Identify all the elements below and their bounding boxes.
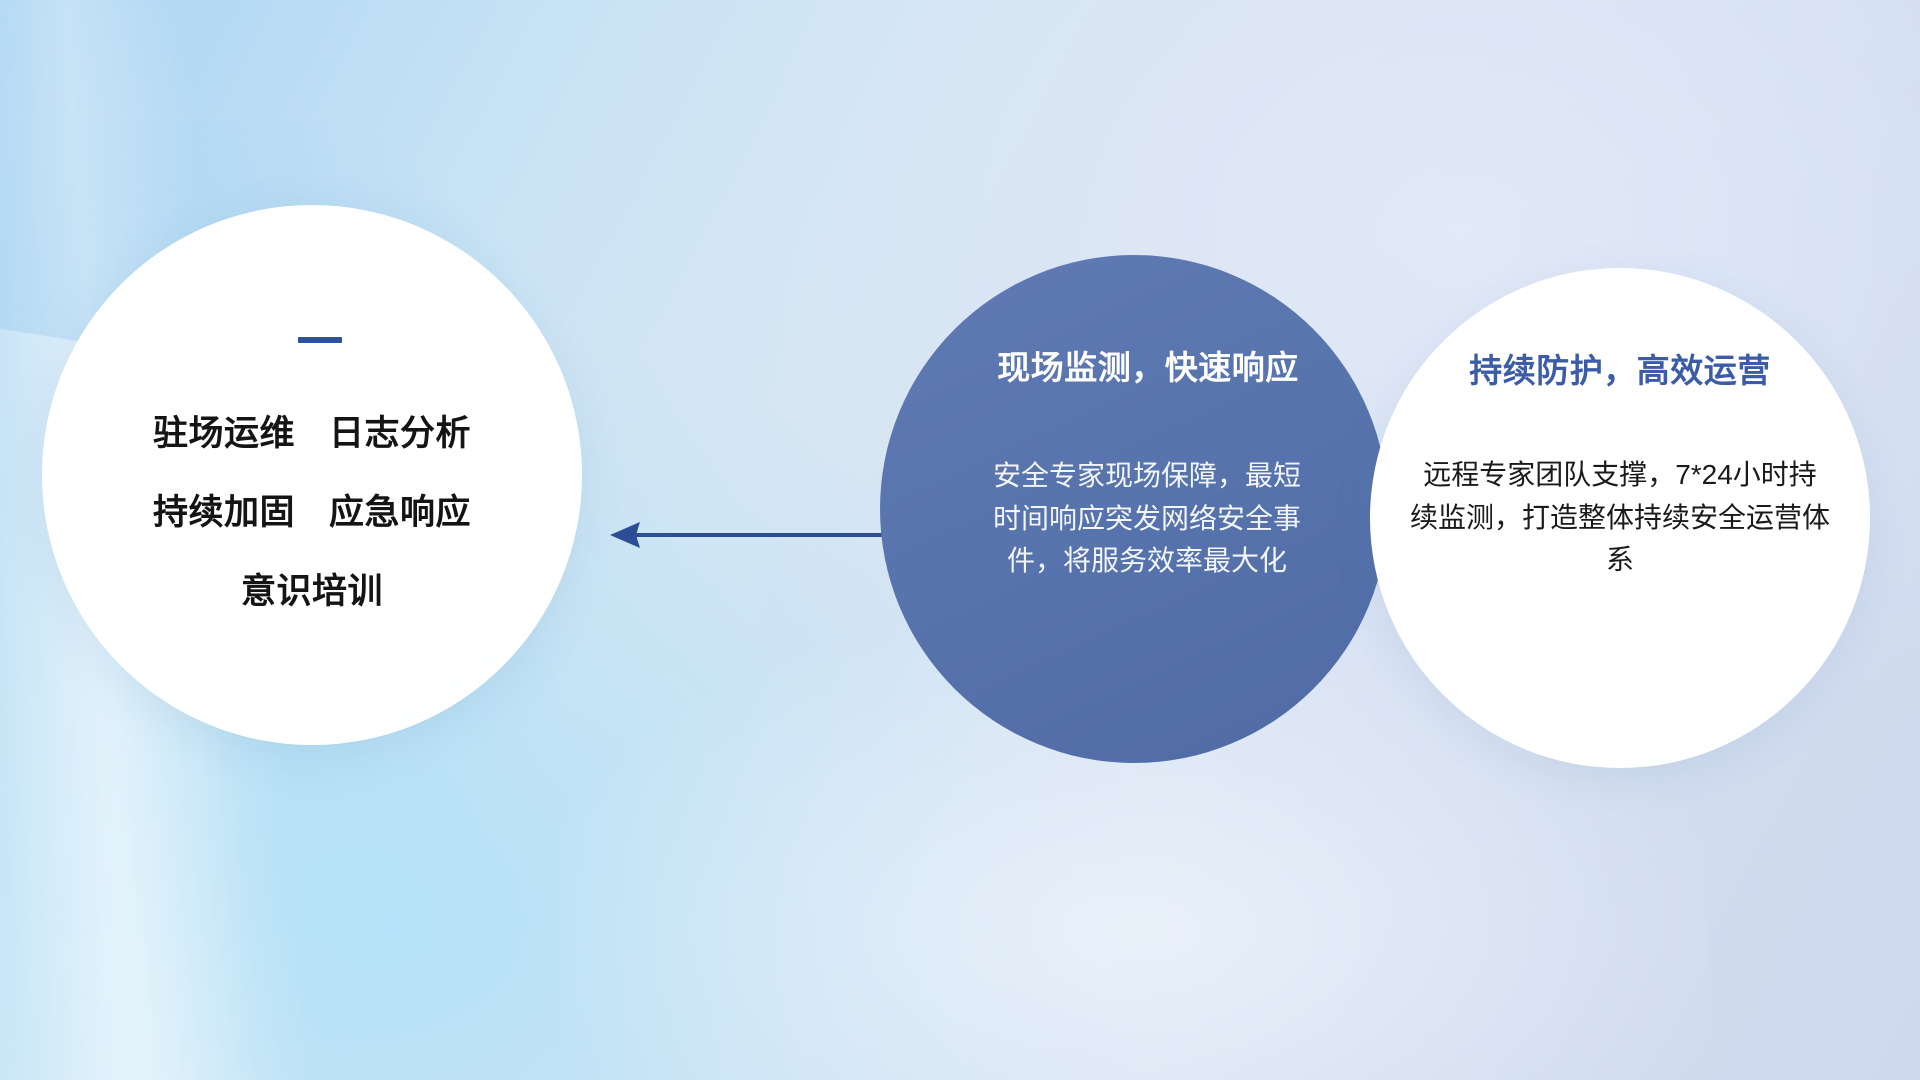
service-tag-chixu-jiagu: 持续加固 — [153, 484, 295, 535]
left-card-row-2: 持续加固 应急响应 — [153, 484, 471, 535]
middle-card-body: 安全专家现场保障，最短时间响应突发网络安全事件，将服务效率最大化 — [982, 455, 1312, 583]
left-card: 驻场运维 日志分析 持续加固 应急响应 意识培训 — [42, 205, 582, 745]
middle-card-title: 现场监测，快速响应 — [997, 341, 1299, 389]
service-tag-rizhi-fenxi: 日志分析 — [329, 405, 471, 456]
service-tag-yishi-peixun: 意识培训 — [241, 563, 383, 614]
right-card-title: 持续防护，高效运营 — [1469, 344, 1771, 392]
middle-card: 现场监测，快速响应 安全专家现场保障，最短时间响应突发网络安全事件，将服务效率最… — [880, 255, 1388, 763]
blue-dash-divider-icon — [298, 337, 342, 343]
service-tag-zhuchang-yunwei: 驻场运维 — [153, 405, 295, 456]
right-card: 持续防护，高效运营 远程专家团队支撑，7*24小时持续监测，打造整体持续安全运营… — [1370, 268, 1870, 768]
left-card-row-1: 驻场运维 日志分析 — [153, 405, 471, 456]
right-card-body: 远程专家团队支撑，7*24小时持续监测，打造整体持续安全运营体系 — [1410, 454, 1830, 582]
left-card-row-3: 意识培训 — [241, 563, 383, 614]
service-tag-yingji-xiangying: 应急响应 — [329, 484, 471, 535]
flow-arrow-icon — [600, 515, 900, 555]
